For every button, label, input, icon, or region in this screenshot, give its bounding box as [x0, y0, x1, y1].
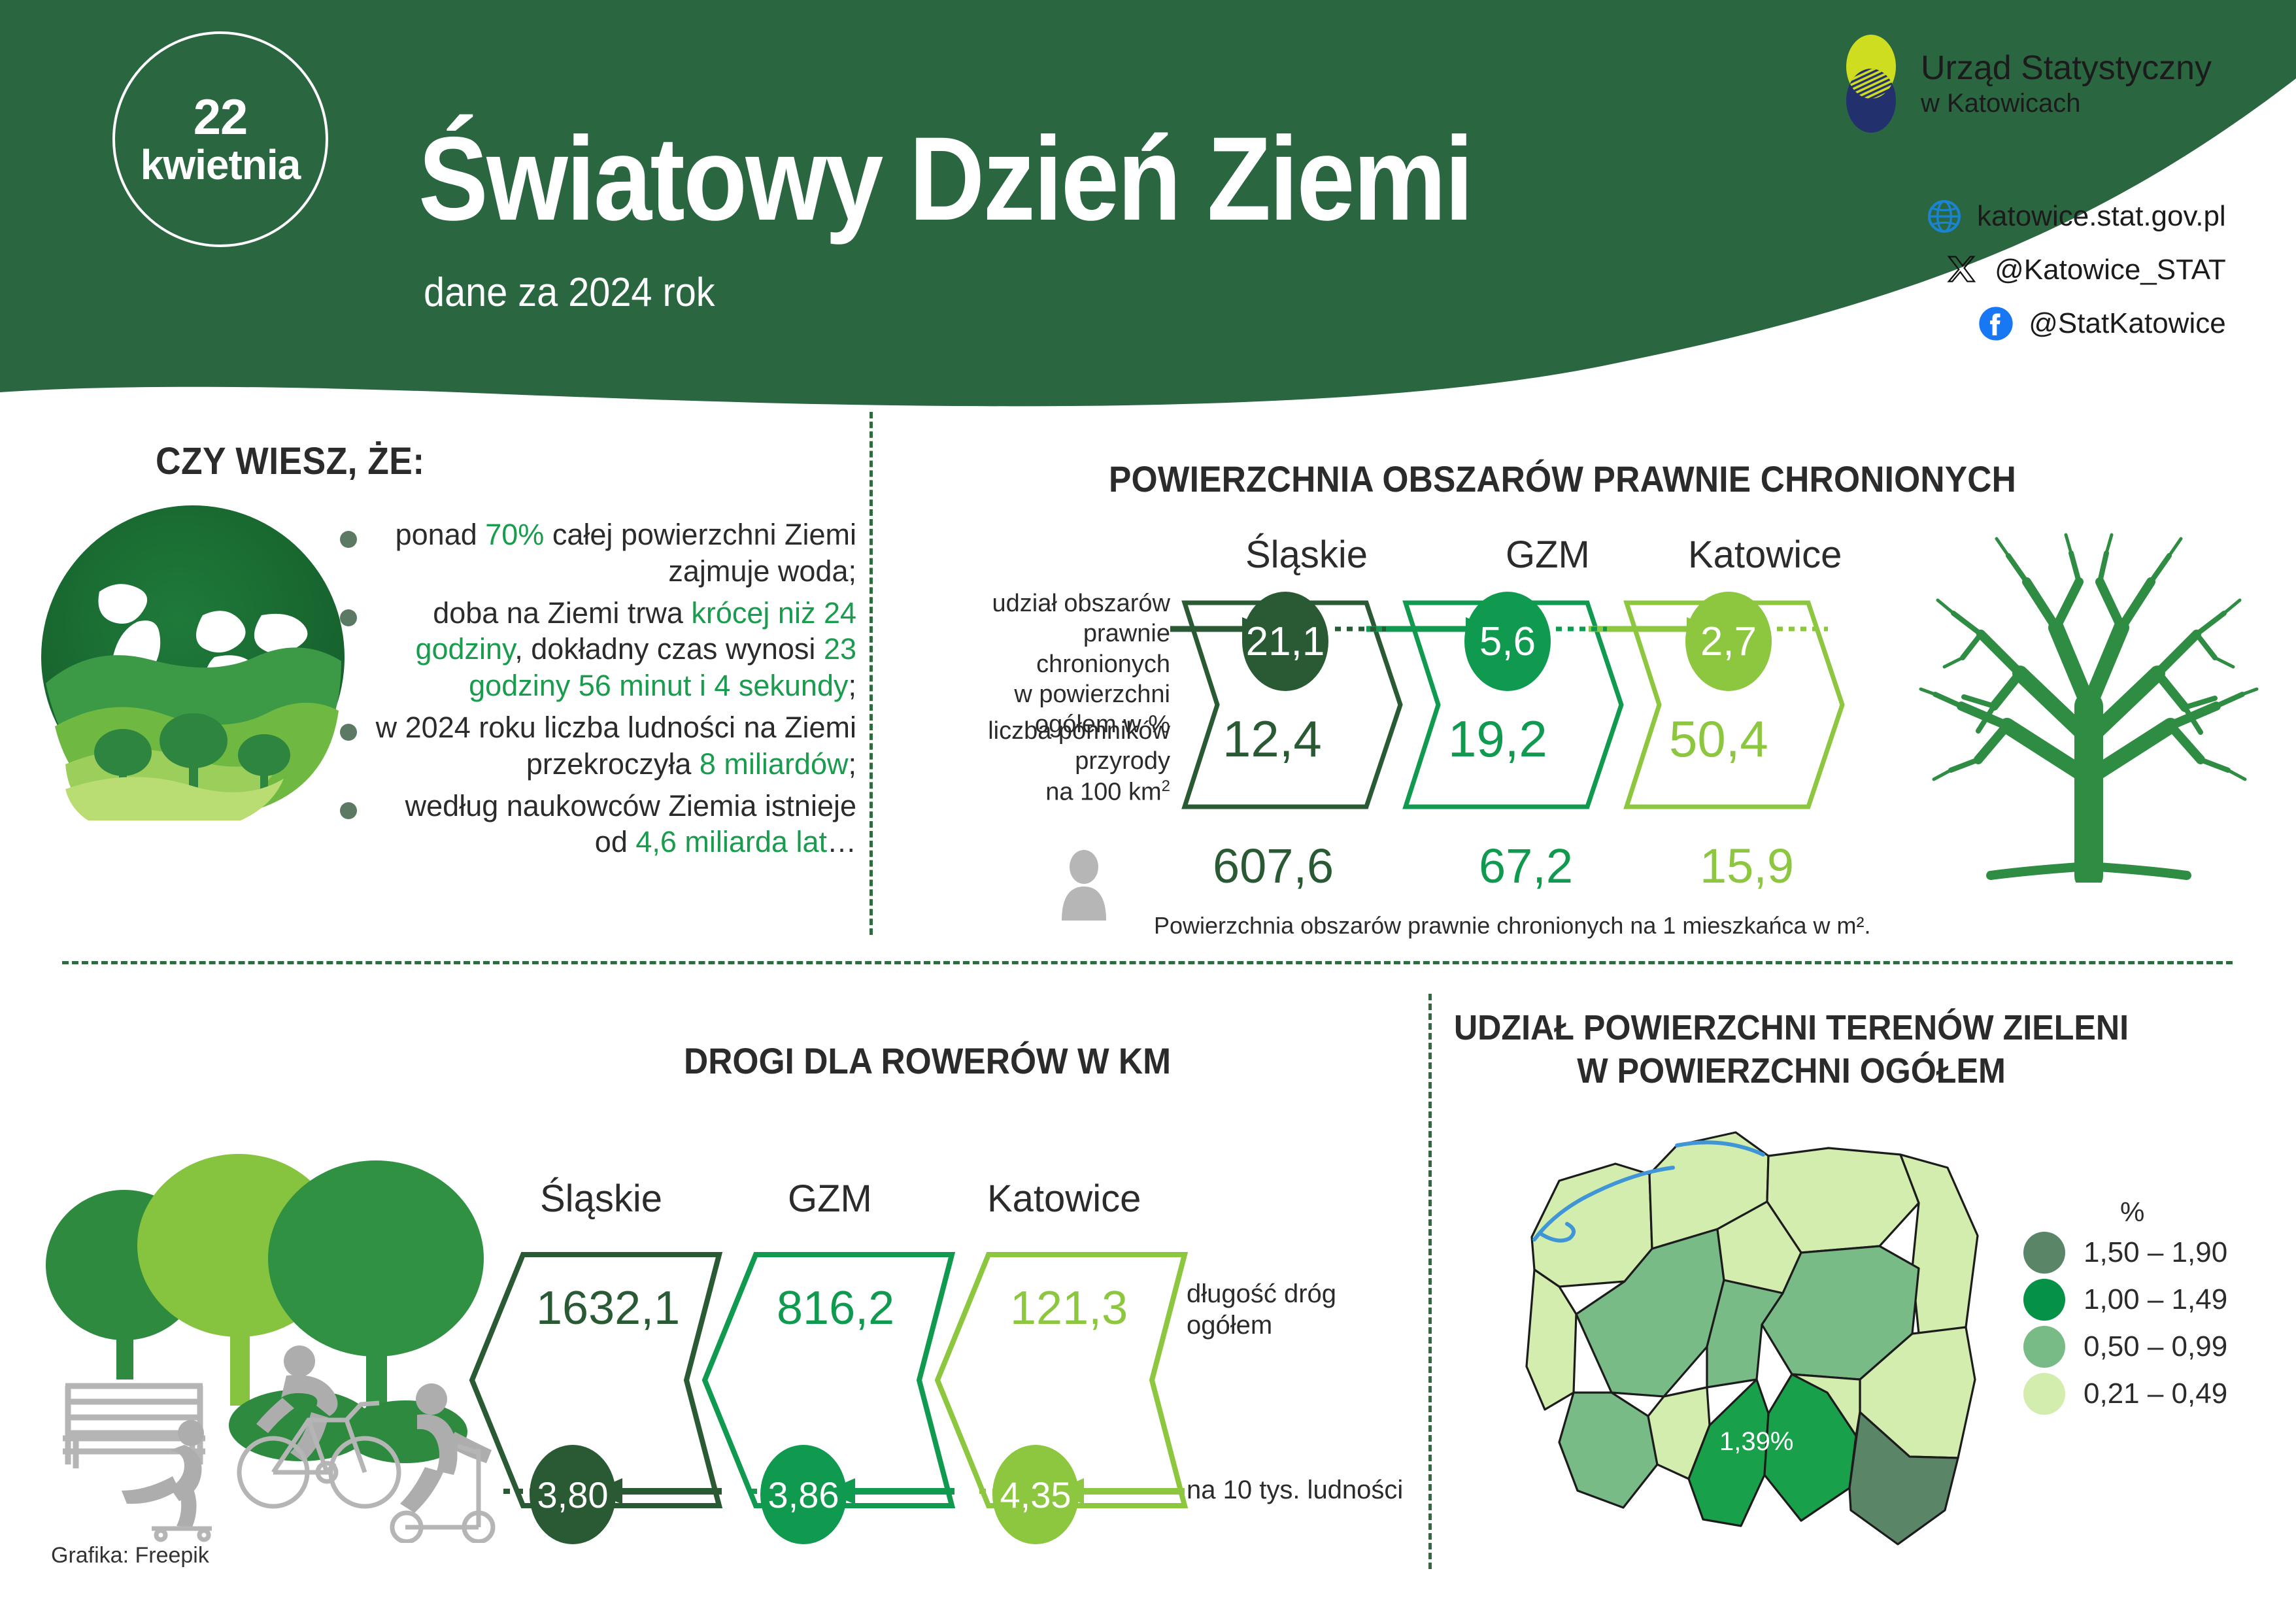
- list-item: doba na Ziemi trwa krócej niż 24 godziny…: [340, 595, 856, 704]
- bike-per10k-circle-katowice: 4,35: [992, 1445, 1079, 1544]
- contact-links: katowice.stat.gov.pl @Katowice_STAT @: [1926, 190, 2226, 350]
- bike-column-gzm: GZM: [788, 1177, 872, 1221]
- legend-item: 1,50 – 1,90: [2023, 1229, 2227, 1276]
- legend-item: 0,21 – 0,49: [2023, 1370, 2227, 1417]
- bike-length-gzm: 816,2: [777, 1281, 894, 1335]
- bullet-dot-icon: [340, 609, 357, 626]
- bullet-dot-icon: [340, 802, 357, 819]
- page-title: Światowy Dzień Ziemi: [418, 110, 1472, 247]
- bike-note-length: długość drógogółem: [1187, 1278, 1336, 1341]
- legend-swatch-4: [2023, 1373, 2065, 1415]
- legend-item: 0,50 – 0,99: [2023, 1323, 2227, 1370]
- fact-text-3: w 2024 roku liczba ludności na Ziemi prz…: [370, 709, 856, 783]
- x-twitter-link[interactable]: @Katowice_STAT: [1926, 243, 2226, 297]
- bike-column-katowice: Katowice: [987, 1177, 1141, 1221]
- x-twitter-handle: @Katowice_STAT: [1995, 254, 2226, 286]
- bike-roads-title: DROGI DLA ROWERÓW W KM: [684, 1040, 1171, 1082]
- facebook-icon: [1978, 305, 2014, 342]
- legend-unit: %: [2120, 1196, 2227, 1228]
- date-badge: 22 kwietnia: [112, 31, 328, 247]
- infographic-root: 22 kwietnia Światowy Dzień Ziemi dane za…: [0, 0, 2296, 1624]
- legend-label-2: 1,00 – 1,49: [2084, 1283, 2227, 1316]
- divider-vertical-top: [869, 412, 873, 935]
- protected-row-label-monuments: liczba pomnikówprzyrodyna 100 km2: [948, 716, 1170, 807]
- share-value-katowice: 2,7: [1700, 618, 1757, 665]
- green-map-title: UDZIAŁ POWIERZCHNI TERENÓW ZIELENI W POW…: [1412, 1007, 2170, 1093]
- bike-length-katowice: 121,3: [1010, 1281, 1128, 1335]
- facebook-handle: @StatKatowice: [2029, 307, 2225, 340]
- percapita-value-slaskie: 607,6: [1213, 838, 1334, 894]
- header-banner: 22 kwietnia Światowy Dzień Ziemi dane za…: [0, 0, 2296, 418]
- website-url: katowice.stat.gov.pl: [1977, 200, 2226, 233]
- green-map-title-line1: UDZIAŁ POWIERZCHNI TERENÓW ZIELENI: [1439, 1007, 2144, 1050]
- logo-text: Urząd Statystyczny w Katowicach: [1921, 48, 2212, 120]
- poland-choropleth-map: 1,39%: [1461, 1118, 2036, 1563]
- bike-column-slaskie: Śląskie: [540, 1177, 662, 1221]
- legend-swatch-3: [2023, 1326, 2065, 1368]
- logo-line2: w Katowicach: [1921, 88, 2212, 119]
- did-you-know-title: CZY WIESZ, ŻE:: [156, 439, 425, 483]
- percapita-note: Powierzchnia obszarów prawnie chronionyc…: [1154, 912, 1871, 939]
- fact-text-4: według naukowców Ziemia istnieje od 4,6 …: [370, 788, 856, 861]
- bike-per10k-value-gzm: 3,86: [768, 1474, 839, 1516]
- person-icon: [1058, 850, 1110, 922]
- date-day: 22: [194, 92, 248, 144]
- fact-text-1: ponad 70% całej powierzchni Ziemi zajmuj…: [370, 516, 856, 590]
- protected-column-katowice: Katowice: [1688, 533, 1842, 577]
- share-value-gzm: 5,6: [1479, 618, 1536, 665]
- legend-swatch-2: [2023, 1279, 2065, 1321]
- legend-swatch-1: [2023, 1232, 2065, 1274]
- logo-mark-icon: [1836, 33, 1906, 135]
- website-link[interactable]: katowice.stat.gov.pl: [1926, 190, 2226, 243]
- map-legend: % 1,50 – 1,90 1,00 – 1,49 0,50 – 0,99 0,…: [2023, 1196, 2227, 1417]
- monuments-value-slaskie: 12,4: [1223, 709, 1322, 769]
- bike-per10k-value-slaskie: 3,80: [537, 1474, 609, 1516]
- park-scene-illustration: [39, 1138, 497, 1543]
- bullet-dot-icon: [340, 724, 357, 741]
- protected-column-gzm: GZM: [1506, 533, 1590, 577]
- organization-logo: Urząd Statystyczny w Katowicach: [1836, 33, 2212, 135]
- green-map-title-line2: W POWIERZCHNI OGÓŁEM: [1439, 1050, 2144, 1093]
- bare-tree-illustration: [1916, 510, 2262, 883]
- bike-per10k-circle-slaskie: 3,80: [530, 1445, 616, 1544]
- legend-item: 1,00 – 1,49: [2023, 1276, 2227, 1323]
- percapita-value-katowice: 15,9: [1700, 838, 1794, 894]
- did-you-know-list: ponad 70% całej powierzchni Ziemi zajmuj…: [340, 516, 856, 866]
- bullet-dot-icon: [340, 531, 357, 548]
- monuments-value-gzm: 19,2: [1448, 709, 1547, 769]
- share-circle-katowice: 2,7: [1685, 592, 1772, 691]
- list-item: ponad 70% całej powierzchni Ziemi zajmuj…: [340, 516, 856, 590]
- map-highlight-label: 1,39%: [1719, 1427, 1793, 1456]
- share-circle-slaskie: 21,1: [1242, 592, 1328, 691]
- monuments-value-katowice: 50,4: [1669, 709, 1768, 769]
- graphics-credit: Grafika: Freepik: [51, 1543, 209, 1568]
- list-item: w 2024 roku liczba ludności na Ziemi prz…: [340, 709, 856, 783]
- legend-label-1: 1,50 – 1,90: [2084, 1236, 2227, 1269]
- legend-label-4: 0,21 – 0,49: [2084, 1378, 2227, 1410]
- divider-horizontal: [62, 961, 2233, 964]
- list-item: według naukowców Ziemia istnieje od 4,6 …: [340, 788, 856, 861]
- protected-areas-title: POWIERZCHNIA OBSZARÓW PRAWNIE CHRONIONYC…: [1109, 458, 2016, 500]
- date-month: kwietnia: [141, 143, 301, 187]
- x-twitter-icon: [1944, 252, 1980, 288]
- logo-line1: Urząd Statystyczny: [1921, 48, 2212, 88]
- page-subtitle: dane za 2024 rok: [424, 269, 715, 316]
- bike-length-slaskie: 1632,1: [536, 1281, 680, 1335]
- bike-per10k-value-katowice: 4,35: [1000, 1474, 1072, 1516]
- facebook-link[interactable]: @StatKatowice: [1926, 297, 2226, 350]
- bike-note-per10k: na 10 tys. ludności: [1187, 1474, 1403, 1506]
- share-circle-gzm: 5,6: [1464, 592, 1551, 691]
- bike-per10k-circle-gzm: 3,86: [760, 1445, 847, 1544]
- globe-icon: [1926, 198, 1963, 235]
- protected-column-slaskie: Śląskie: [1245, 533, 1368, 577]
- legend-label-3: 0,50 – 0,99: [2084, 1330, 2227, 1363]
- percapita-value-gzm: 67,2: [1479, 838, 1573, 894]
- share-value-slaskie: 21,1: [1246, 618, 1325, 665]
- fact-text-2: doba na Ziemi trwa krócej niż 24 godziny…: [370, 595, 856, 704]
- earth-illustration: [39, 494, 346, 820]
